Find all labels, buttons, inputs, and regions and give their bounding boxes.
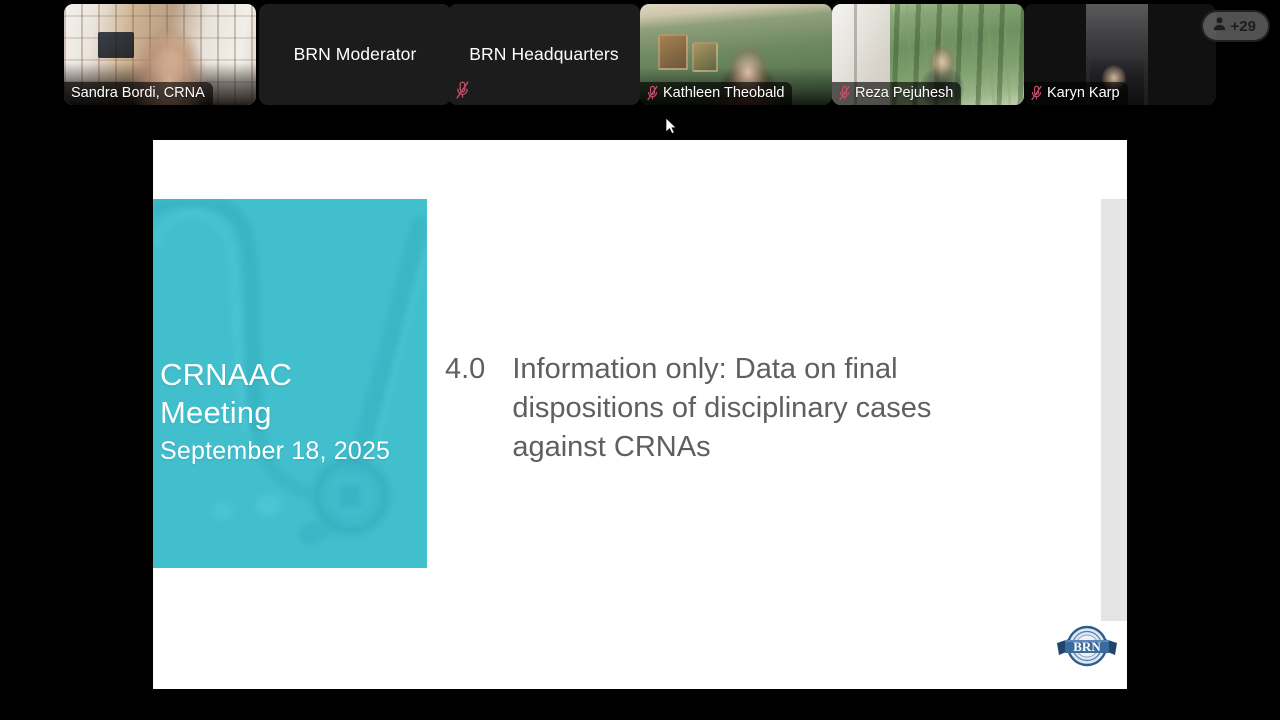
mic-muted-icon — [456, 81, 469, 99]
slide-scrollbar-track[interactable] — [1101, 199, 1127, 621]
mic-muted-icon — [839, 85, 850, 101]
participant-name: BRN Moderator — [288, 44, 423, 65]
slide-hero-panel: CRNAAC Meeting September 18, 2025 — [153, 199, 427, 568]
participant-tile-kathleen-theobald[interactable]: Kathleen Theobald — [640, 4, 832, 105]
participant-name: Kathleen Theobald — [663, 85, 784, 101]
participant-label: Reza Pejuhesh — [832, 82, 961, 105]
agenda-item-number: 4.0 — [445, 350, 485, 467]
hero-date: September 18, 2025 — [160, 436, 422, 466]
overflow-count: +29 — [1231, 18, 1256, 35]
brn-seal-logo: BRN — [1053, 623, 1121, 671]
agenda-item-block: 4.0 Information only: Data on final disp… — [445, 350, 1005, 467]
person-icon — [1212, 16, 1227, 36]
mic-muted-icon — [647, 85, 658, 101]
participant-filmstrip: Sandra Bordi, CRNA BRN Moderator BRN Hea… — [0, 0, 1280, 110]
hero-title: CRNAAC Meeting — [160, 356, 422, 432]
participant-tile-brn-moderator[interactable]: BRN Moderator — [259, 4, 451, 105]
participant-overflow-badge[interactable]: +29 — [1201, 10, 1270, 42]
shared-slide[interactable]: CRNAAC Meeting September 18, 2025 4.0 In… — [153, 140, 1127, 689]
mouse-cursor — [665, 117, 677, 135]
participant-tile-brn-headquarters[interactable]: BRN Headquarters — [448, 4, 640, 105]
participant-name: Karyn Karp — [1047, 85, 1120, 101]
mic-muted-icon — [1031, 85, 1042, 101]
participant-tile-sandra-bordi[interactable]: Sandra Bordi, CRNA — [64, 4, 256, 105]
participant-label: Sandra Bordi, CRNA — [64, 82, 213, 105]
participant-name: Sandra Bordi, CRNA — [71, 85, 205, 101]
participant-tile-karyn-karp[interactable]: Karyn Karp — [1024, 4, 1216, 105]
agenda-item-text: Information only: Data on final disposit… — [512, 350, 1005, 467]
participant-name: BRN Headquarters — [463, 44, 624, 65]
participant-label: Karyn Karp — [1024, 82, 1128, 105]
participant-name: Reza Pejuhesh — [855, 85, 953, 101]
participant-label: Kathleen Theobald — [640, 82, 792, 105]
hero-text-block: CRNAAC Meeting September 18, 2025 — [160, 356, 422, 466]
meeting-screen: Sandra Bordi, CRNA BRN Moderator BRN Hea… — [0, 0, 1280, 720]
participant-tile-reza-pejuhesh[interactable]: Reza Pejuhesh — [832, 4, 1024, 105]
brn-logo-text: BRN — [1073, 639, 1101, 654]
